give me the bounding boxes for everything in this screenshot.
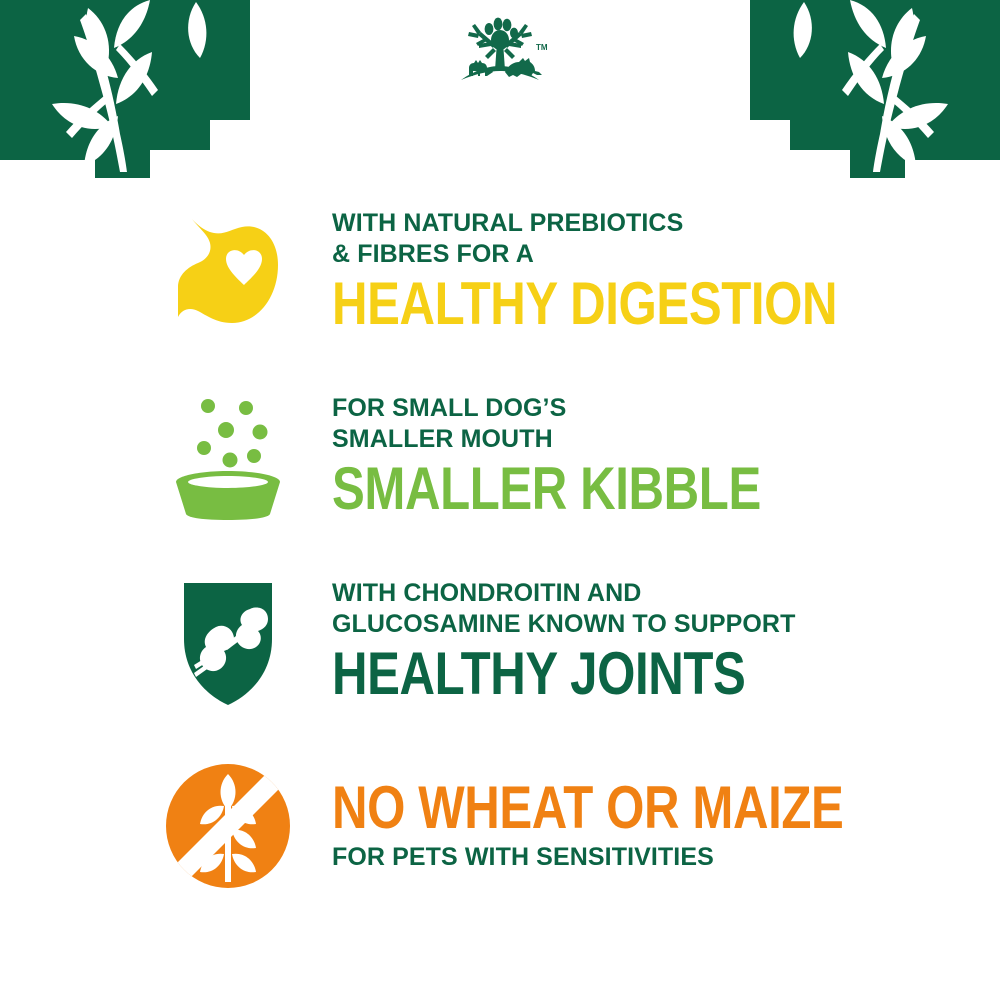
leaf-branch-corner-left: [0, 0, 250, 178]
feature-headline: NO WHEAT OR MAIZE: [332, 778, 863, 838]
feature-subline-1: WITH CHONDROITIN AND: [332, 578, 980, 609]
feature-text-smaller-kibble: FOR SMALL DOG’S SMALLER MOUTH SMALLER KI…: [304, 393, 1000, 519]
feature-subline-1: WITH NATURAL PREBIOTICS: [332, 208, 980, 239]
feature-headline: SMALLER KIBBLE: [332, 459, 863, 519]
feature-text-healthy-digestion: WITH NATURAL PREBIOTICS & FIBRES FOR A H…: [304, 208, 1000, 334]
trademark-mark: TM: [536, 43, 548, 52]
stomach-with-heart-icon: [152, 201, 304, 341]
feature-headline: HEALTHY JOINTS: [332, 644, 863, 704]
feature-list: WITH NATURAL PREBIOTICS & FIBRES FOR A H…: [0, 178, 1000, 918]
no-wheat-crossed-out-icon: [152, 756, 304, 896]
feature-subline-2: SMALLER MOUTH: [332, 424, 980, 455]
feature-text-no-wheat-or-maize: NO WHEAT OR MAIZE FOR PETS WITH SENSITIV…: [304, 778, 1000, 873]
feature-row-healthy-joints: WITH CHONDROITIN AND GLUCOSAMINE KNOWN T…: [0, 548, 1000, 733]
shield-with-joint-bone-icon: [152, 571, 304, 711]
feature-text-healthy-joints: WITH CHONDROITIN AND GLUCOSAMINE KNOWN T…: [304, 578, 1000, 704]
feature-subline-2: GLUCOSAMINE KNOWN TO SUPPORT: [332, 609, 980, 640]
feature-subline-1: FOR PETS WITH SENSITIVITIES: [332, 842, 980, 873]
feature-row-healthy-digestion: WITH NATURAL PREBIOTICS & FIBRES FOR A H…: [0, 178, 1000, 363]
dog-bowl-with-kibble-icon: [152, 386, 304, 526]
feature-headline: HEALTHY DIGESTION: [332, 274, 863, 334]
feature-row-smaller-kibble: FOR SMALL DOG’S SMALLER MOUTH SMALLER KI…: [0, 363, 1000, 548]
brand-logo: TM: [445, 14, 555, 88]
feature-subline-2: & FIBRES FOR A: [332, 239, 980, 270]
feature-row-no-wheat-or-maize: NO WHEAT OR MAIZE FOR PETS WITH SENSITIV…: [0, 733, 1000, 918]
feature-subline-1: FOR SMALL DOG’S: [332, 393, 980, 424]
leaf-branch-corner-right: [750, 0, 1000, 178]
